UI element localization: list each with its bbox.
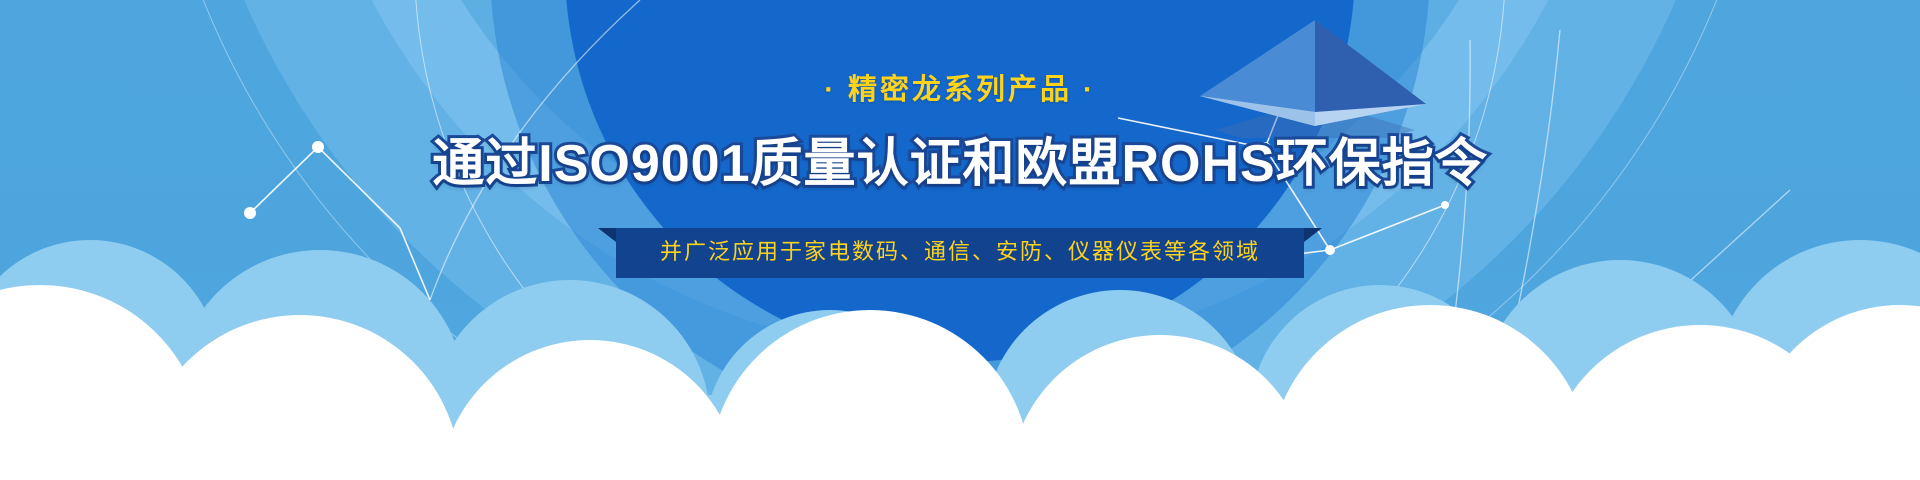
- banner-headline: 通过ISO9001质量认证和欧盟ROHS环保指令: [0, 138, 1920, 190]
- banner-eyebrow: · 精密龙系列产品 ·: [0, 76, 1920, 105]
- tagline-fold-left: [598, 228, 616, 242]
- banner-content: · 精密龙系列产品 · 通过ISO9001质量认证和欧盟ROHS环保指令 并广泛…: [0, 0, 1920, 278]
- tagline-box: 并广泛应用于家电数码、通信、安防、仪器仪表等各领域: [616, 228, 1304, 278]
- promo-banner: · 精密龙系列产品 · 通过ISO9001质量认证和欧盟ROHS环保指令 并广泛…: [0, 0, 1920, 480]
- banner-tagline: 并广泛应用于家电数码、通信、安防、仪器仪表等各领域: [660, 239, 1260, 264]
- tagline-fold-right: [1304, 228, 1322, 242]
